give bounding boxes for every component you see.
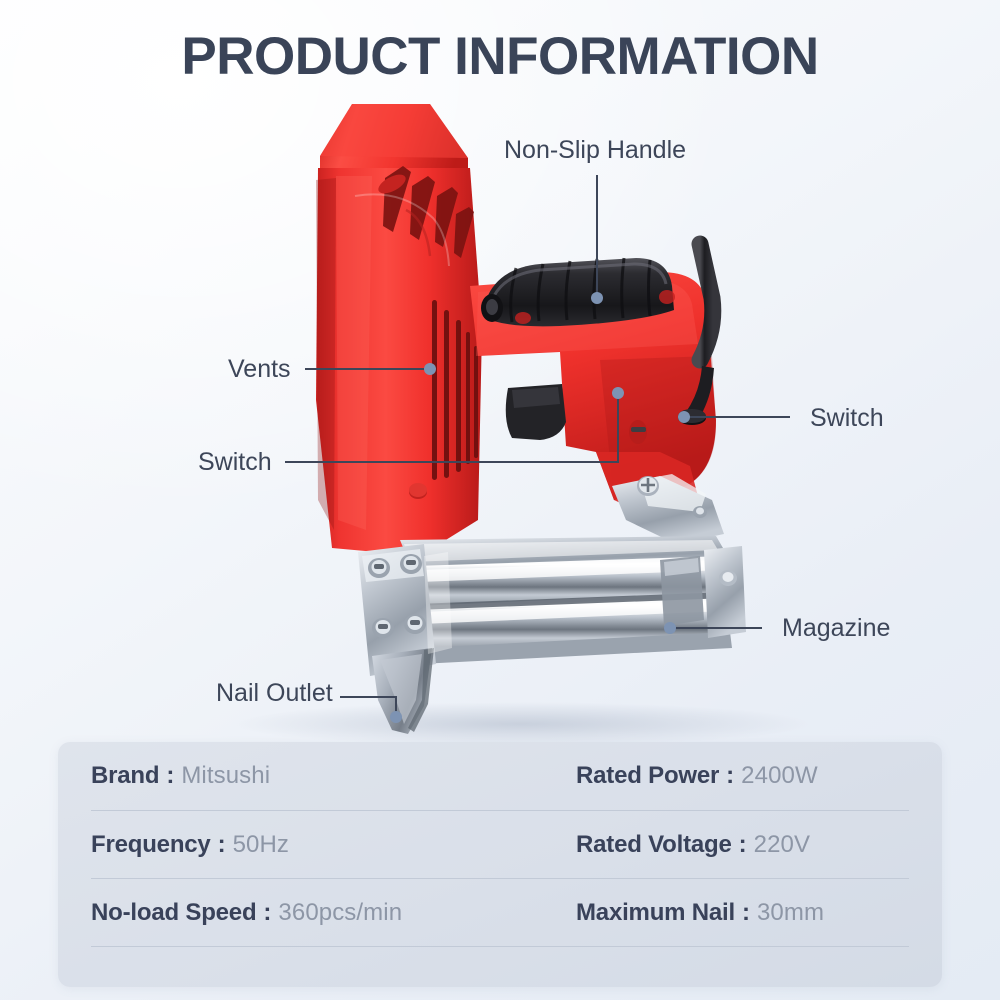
spec-frequency: Frequency : 50Hz (91, 831, 576, 859)
specifications-panel: Brand : Mitsushi Rated Power : 2400W Fre… (58, 742, 942, 987)
spec-brand-sep: : (159, 762, 181, 790)
leader-switch-left (285, 395, 618, 462)
callout-label-nail-outlet: Nail Outlet (216, 678, 333, 708)
callout-label-vents: Vents (228, 354, 291, 384)
spec-bottom-divider (91, 946, 909, 947)
callout-label-magazine: Magazine (782, 613, 890, 643)
leader-nail-outlet (340, 697, 396, 716)
spec-frequency-value: 50Hz (233, 831, 289, 859)
spec-brand: Brand : Mitsushi (91, 762, 576, 790)
spec-rated-power: Rated Power : 2400W (576, 762, 909, 790)
spec-no-load-speed: No-load Speed : 360pcs/min (91, 899, 576, 927)
spec-no-load-speed-value: 360pcs/min (278, 899, 402, 927)
spec-no-load-speed-key: No-load Speed (91, 899, 256, 927)
spec-maximum-nail: Maximum Nail : 30mm (576, 899, 909, 927)
spec-maximum-nail-sep: : (735, 899, 757, 927)
callout-label-switch-left: Switch (198, 447, 272, 477)
spec-rated-power-value: 2400W (741, 762, 818, 790)
spec-row-2: Frequency : 50Hz Rated Voltage : 220V (91, 810, 909, 878)
spec-rated-voltage-key: Rated Voltage (576, 831, 732, 859)
spec-brand-value: Mitsushi (181, 762, 270, 790)
spec-brand-key: Brand (91, 762, 159, 790)
spec-row-3: No-load Speed : 360pcs/min Maximum Nail … (91, 878, 909, 946)
spec-frequency-sep: : (211, 831, 233, 859)
product-illustration: Non-Slip Handle Vents Switch Switch Maga… (0, 0, 1000, 760)
spec-rated-voltage-sep: : (732, 831, 754, 859)
callout-leader-lines (0, 0, 1000, 760)
spec-maximum-nail-key: Maximum Nail (576, 899, 735, 927)
callout-dots (390, 292, 690, 723)
spec-maximum-nail-value: 30mm (757, 899, 824, 927)
product-information-page: PRODUCT INFORMATION (0, 0, 1000, 1000)
spec-no-load-speed-sep: : (256, 899, 278, 927)
spec-rated-voltage: Rated Voltage : 220V (576, 831, 909, 859)
spec-frequency-key: Frequency (91, 831, 211, 859)
spec-rated-power-sep: : (719, 762, 741, 790)
spec-row-1: Brand : Mitsushi Rated Power : 2400W (91, 742, 909, 810)
spec-rated-power-key: Rated Power (576, 762, 719, 790)
spec-rated-voltage-value: 220V (754, 831, 810, 859)
callout-label-switch-right: Switch (810, 403, 884, 433)
callout-label-non-slip-handle: Non-Slip Handle (504, 135, 686, 165)
